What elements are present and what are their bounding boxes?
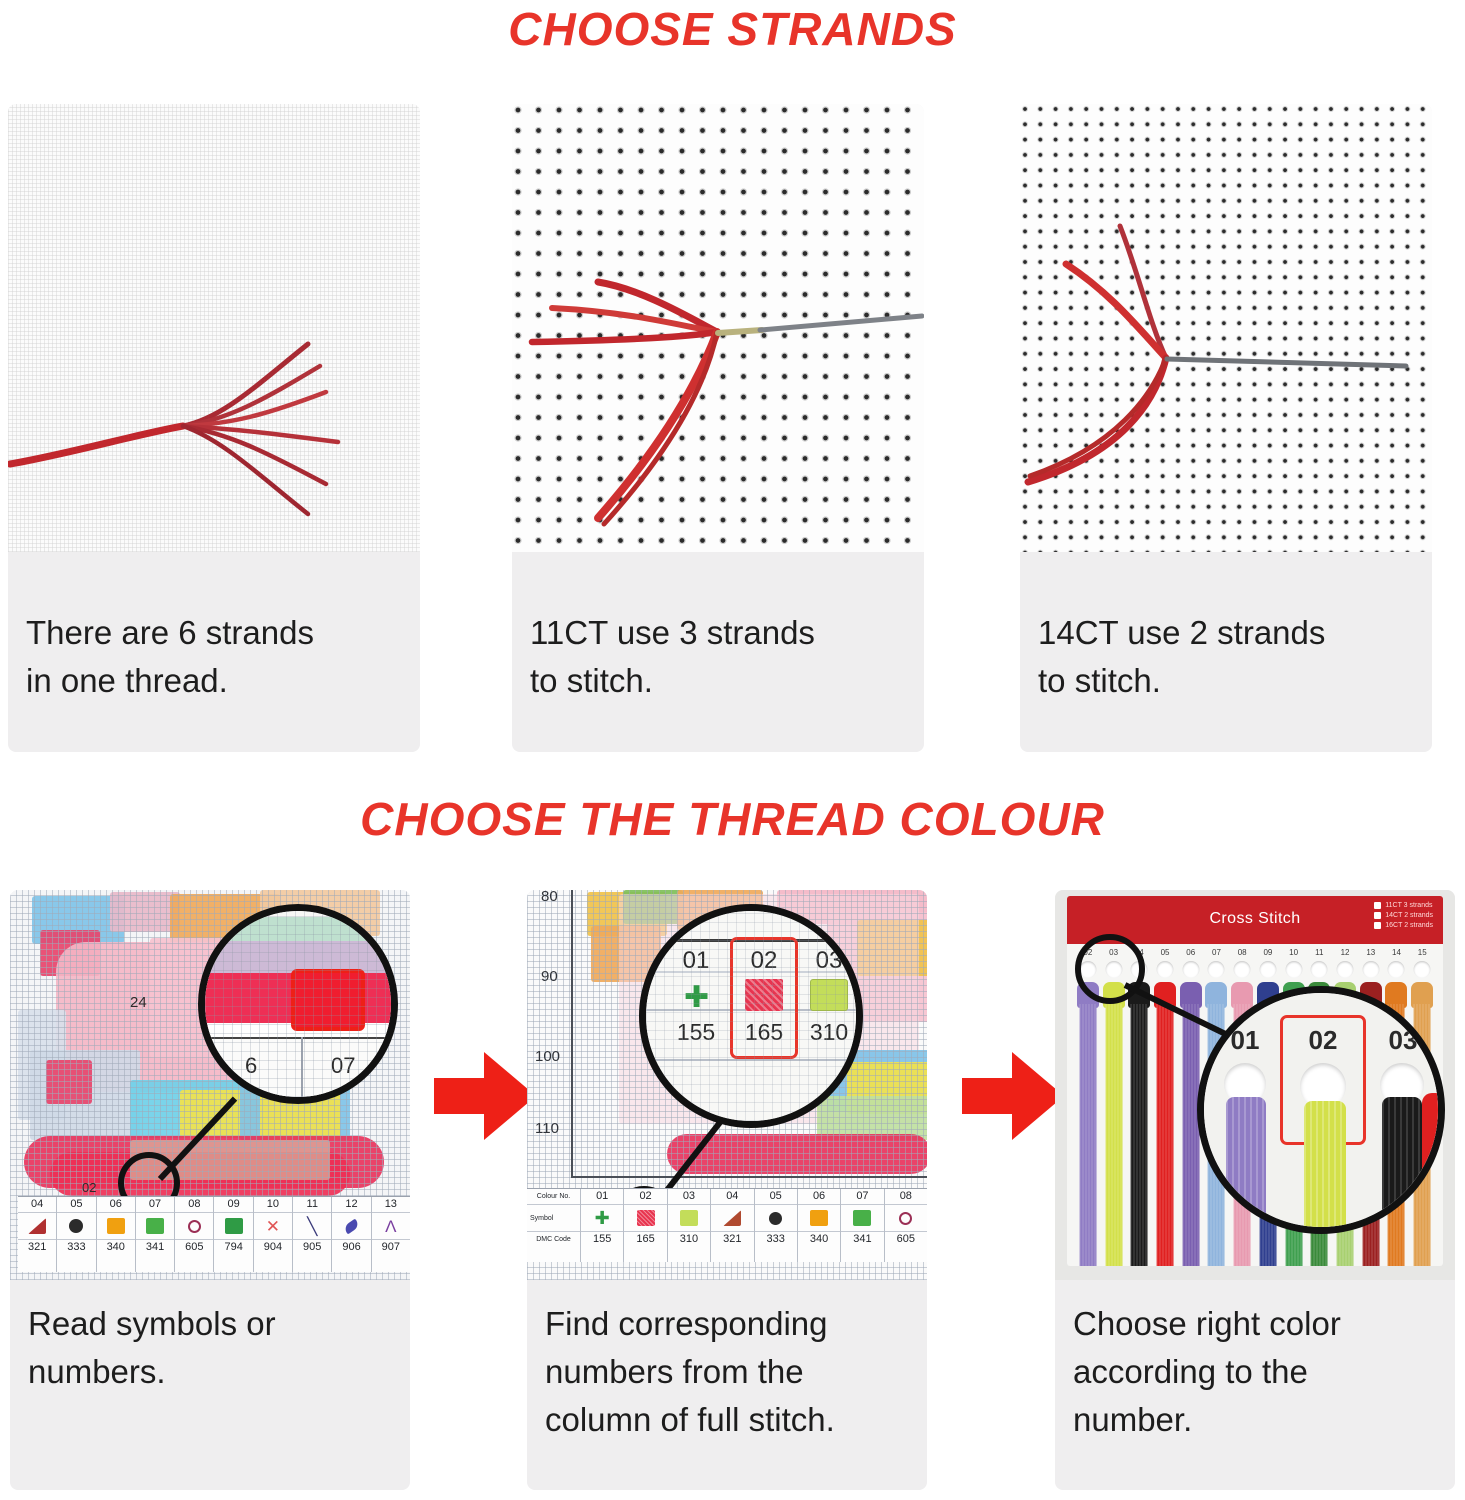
thread-skein	[1126, 982, 1152, 1266]
legend-thread-code: 333	[755, 1231, 797, 1247]
caption-line-2: to stitch.	[530, 657, 906, 705]
caption-read-symbols: Read symbols or numbers.	[10, 1300, 410, 1396]
legend-column: 01 ✚ 155	[581, 1189, 624, 1262]
y-axis-tick-90: 90	[541, 968, 558, 985]
legend-row-labels: Colour No. Symbol DMC Code	[527, 1189, 581, 1262]
card-read-symbols: 24 02 6 07	[10, 890, 410, 1490]
photo-six-strands	[8, 104, 420, 552]
legend-column: 10 ✕ 904	[254, 1197, 293, 1272]
slot-number: 07	[1204, 948, 1230, 957]
thread-skein	[1075, 982, 1101, 1266]
slot-number: 06	[1178, 948, 1204, 957]
chart-y-axis	[571, 890, 573, 1178]
legend-column-number: 01	[581, 1189, 623, 1205]
caption-line-2: numbers from the	[545, 1348, 909, 1396]
magnifier-slot-02: 02	[1284, 1025, 1362, 1056]
caption-line-1: Find corresponding	[545, 1300, 909, 1348]
thread-slot: 12	[1332, 948, 1358, 986]
legend-column-number: 05	[57, 1197, 95, 1213]
legend-symbol-feather	[332, 1213, 370, 1239]
chart-x-axis	[571, 1176, 927, 1178]
legend-column-number: 07	[136, 1197, 174, 1213]
magnifier-skein-03	[1382, 1097, 1422, 1234]
magnifier-focus-circle	[1075, 934, 1145, 1004]
y-axis-tick-80: 80	[541, 890, 558, 905]
slot-hole	[1182, 961, 1199, 978]
legend-column: 02 165	[624, 1189, 667, 1262]
thread-slot: 05	[1152, 948, 1178, 986]
pattern-marker-02: 02	[82, 1180, 96, 1195]
caption-line-2: to stitch.	[1038, 657, 1414, 705]
section-title-choose-thread-colour: CHOOSE THE THREAD COLOUR	[0, 792, 1465, 846]
magnifier-slot-03: 03	[1368, 1025, 1438, 1056]
legend-symbol: ✚	[581, 1205, 623, 1231]
legend-column-number: 02	[624, 1189, 666, 1205]
card-six-strands: There are 6 strands in one thread.	[8, 104, 420, 752]
slot-number: 13	[1358, 948, 1384, 957]
slot-hole	[1388, 961, 1405, 978]
legend-column: 07 341	[841, 1189, 884, 1262]
slot-number: 12	[1332, 948, 1358, 957]
photo-thread-card: Cross Stitch 11CT 3 strands 14CT 2 stran…	[1055, 890, 1455, 1280]
legend-column-number: 04	[18, 1197, 56, 1213]
legend-column: 05 333	[57, 1197, 96, 1272]
legend-symbol-cross: ✕	[254, 1213, 292, 1239]
thread-slot: 09	[1255, 948, 1281, 986]
legend-column: 13 Λ 907	[372, 1197, 410, 1272]
slot-number: 05	[1152, 948, 1178, 957]
legend-thread-code: 340	[97, 1239, 135, 1255]
caption-line-3: number.	[1073, 1396, 1437, 1444]
legend-thread-code: 341	[136, 1239, 174, 1255]
legend-thread-code: 605	[175, 1239, 213, 1255]
legend-symbol	[18, 1213, 56, 1239]
thread-skein	[1101, 982, 1127, 1266]
legend-thread-code: 165	[624, 1231, 666, 1247]
legend-column-number: 07	[841, 1189, 883, 1205]
y-axis-tick-100: 100	[535, 1048, 560, 1065]
slot-number: 09	[1255, 948, 1281, 957]
pattern-legend-strip: 04 321 05 333 06 340 07 341	[18, 1196, 410, 1272]
legend-column-number: 09	[214, 1197, 252, 1213]
legend-symbol	[798, 1205, 840, 1231]
check-label: 11CT 3 strands	[1385, 902, 1432, 909]
caption-line-2: numbers.	[28, 1348, 392, 1396]
slot-number: 14	[1384, 948, 1410, 957]
legend-thread-code: 794	[214, 1239, 252, 1255]
legend-column-number: 13	[372, 1197, 410, 1213]
legend-column: 06 340	[798, 1189, 841, 1262]
slot-number: 11	[1306, 948, 1332, 957]
legend-symbol	[668, 1205, 710, 1231]
thread-card-check-item: 14CT 2 strands	[1374, 912, 1433, 919]
legend-column-number: 10	[254, 1197, 292, 1213]
checkbox-icon	[1374, 902, 1381, 909]
legend-thread-code: 907	[372, 1239, 410, 1255]
legend-column: 05 333	[755, 1189, 798, 1262]
thread-card-check-item: 11CT 3 strands	[1374, 902, 1433, 909]
thread-slot: 13	[1358, 948, 1384, 986]
caption-find-numbers: Find corresponding numbers from the colu…	[527, 1300, 927, 1444]
legend-thread-code: 310	[668, 1231, 710, 1247]
legend-column: 09 794	[214, 1197, 253, 1272]
legend-column: 08 605	[885, 1189, 927, 1262]
thread-six-strands-illustration	[8, 104, 420, 552]
legend-symbol	[214, 1213, 252, 1239]
legend-column-number: 06	[97, 1197, 135, 1213]
legend-symbol	[175, 1213, 213, 1239]
section-title-choose-strands: CHOOSE STRANDS	[0, 2, 1465, 56]
thread-skein	[1152, 982, 1178, 1266]
legend-column: 06 340	[97, 1197, 136, 1272]
two-strands-needle-illustration	[1020, 104, 1432, 552]
number-chart-canvas: 80 90 100 110 01 ✚ 155 02	[527, 890, 927, 1280]
slot-hole	[1234, 961, 1251, 978]
legend-thread-code: 340	[798, 1231, 840, 1247]
card-choose-colour: Cross Stitch 11CT 3 strands 14CT 2 stran…	[1055, 890, 1455, 1490]
legend-symbol	[841, 1205, 883, 1231]
legend-column-number: 05	[755, 1189, 797, 1205]
thread-slot: 10	[1281, 948, 1307, 986]
caption-14ct-two-strands: 14CT use 2 strands to stitch.	[1020, 609, 1432, 705]
legend-thread-code: 333	[57, 1239, 95, 1255]
caption-line-1: Read symbols or	[28, 1300, 392, 1348]
slot-hole	[1285, 961, 1302, 978]
slot-number: 08	[1229, 948, 1255, 957]
magnifier-lens-threadcard: 01 02 03	[1197, 986, 1445, 1234]
magnifier-skein-02	[1304, 1101, 1346, 1234]
thread-slot: 07	[1204, 948, 1230, 986]
legend-column: 12 906	[332, 1197, 371, 1272]
caption-line-2: according to the	[1073, 1348, 1437, 1396]
slot-number: 10	[1281, 948, 1307, 957]
thread-slot: 06	[1178, 948, 1204, 986]
slot-hole	[1259, 961, 1276, 978]
legend-column-number: 11	[293, 1197, 331, 1213]
legend-column-number: 03	[668, 1189, 710, 1205]
caption-choose-colour: Choose right color according to the numb…	[1055, 1300, 1455, 1444]
legend-column-number: 04	[711, 1189, 753, 1205]
legend-symbol	[885, 1205, 927, 1231]
legend-symbol	[97, 1213, 135, 1239]
magnifier-skein-01	[1226, 1097, 1266, 1234]
caption-line-2: in one thread.	[26, 657, 402, 705]
caption-line-1: 14CT use 2 strands	[1038, 609, 1414, 657]
legend-column-number: 06	[798, 1189, 840, 1205]
slot-hole	[1362, 961, 1379, 978]
legend-symbol	[57, 1213, 95, 1239]
legend-symbol-slash: ╲	[293, 1213, 331, 1239]
legend-thread-code: 905	[293, 1239, 331, 1255]
legend-column: 04 321	[18, 1197, 57, 1272]
photo-pattern-chart: 24 02 6 07	[10, 890, 410, 1280]
legend-thread-code: 155	[581, 1231, 623, 1247]
legend-column: 07 341	[136, 1197, 175, 1272]
photo-number-chart: 80 90 100 110 01 ✚ 155 02	[527, 890, 927, 1280]
slot-hole	[1208, 961, 1225, 978]
card-find-numbers: 80 90 100 110 01 ✚ 155 02	[527, 890, 927, 1490]
thread-slot: 11	[1306, 948, 1332, 986]
legend-thread-code: 321	[18, 1239, 56, 1255]
legend-thread-code: 904	[254, 1239, 292, 1255]
caption-line-3: column of full stitch.	[545, 1396, 909, 1444]
legend-symbol	[755, 1205, 797, 1231]
magnifier-lens-pattern: 6 07	[198, 904, 398, 1104]
caption-line-1: There are 6 strands	[26, 609, 402, 657]
caption-six-strands: There are 6 strands in one thread.	[8, 609, 420, 705]
slot-hole	[1157, 961, 1174, 978]
caption-line-1: 11CT use 3 strands	[530, 609, 906, 657]
legend-row-label-symbol: Symbol	[527, 1205, 580, 1231]
slot-hole	[1414, 961, 1431, 978]
caption-11ct-three-strands: 11CT use 3 strands to stitch.	[512, 609, 924, 705]
photo-11ct-three-strands	[512, 104, 924, 552]
check-label: 14CT 2 strands	[1385, 912, 1433, 919]
slot-hole	[1311, 961, 1328, 978]
legend-row-label-number: Colour No.	[527, 1189, 580, 1205]
legend-column: 03 310	[668, 1189, 711, 1262]
thread-slot: 08	[1229, 948, 1255, 986]
legend-column: 04 321	[711, 1189, 754, 1262]
magnifier-slot-01: 01	[1212, 1025, 1278, 1056]
checkbox-icon	[1374, 912, 1381, 919]
pattern-marker-24: 24	[130, 994, 147, 1011]
legend-thread-code: 341	[841, 1231, 883, 1247]
y-axis-tick-110: 110	[535, 1120, 559, 1137]
legend-thread-code: 321	[711, 1231, 753, 1247]
legend-column-number: 08	[885, 1189, 927, 1205]
thread-slot: 15	[1409, 948, 1435, 986]
slot-number: 15	[1409, 948, 1435, 957]
legend-symbol	[136, 1213, 174, 1239]
legend-symbol-caret: Λ	[372, 1213, 410, 1239]
card-14ct-two-strands: 14CT use 2 strands to stitch.	[1020, 104, 1432, 752]
legend-row-label-code: DMC Code	[527, 1231, 580, 1247]
thread-organizer-card: Cross Stitch 11CT 3 strands 14CT 2 stran…	[1055, 890, 1455, 1280]
pattern-chart-canvas: 24 02 6 07	[10, 890, 410, 1280]
legend-thread-code: 605	[885, 1231, 927, 1247]
card-11ct-three-strands: 11CT use 3 strands to stitch.	[512, 104, 924, 752]
check-label: 16CT 2 strands	[1385, 922, 1433, 929]
legend-column: 08 605	[175, 1197, 214, 1272]
thread-card-check-item: 16CT 2 strands	[1374, 922, 1433, 929]
legend-symbol	[624, 1205, 666, 1231]
legend-symbol	[711, 1205, 753, 1231]
caption-line-1: Choose right color	[1073, 1300, 1437, 1348]
thread-card-checkbox-list: 11CT 3 strands 14CT 2 strands 16CT 2 str…	[1374, 902, 1433, 929]
number-legend-strip: Colour No. Symbol DMC Code 01 ✚ 155 02 1…	[527, 1188, 927, 1262]
legend-column: 11 ╲ 905	[293, 1197, 332, 1272]
legend-column-number: 12	[332, 1197, 370, 1213]
legend-column-number: 08	[175, 1197, 213, 1213]
three-strands-needle-illustration	[512, 104, 924, 552]
photo-14ct-two-strands	[1020, 104, 1432, 552]
thread-slot: 14	[1384, 948, 1410, 986]
checkbox-icon	[1374, 922, 1381, 929]
slot-hole	[1337, 961, 1354, 978]
magnifier-lens-numbers: 01 ✚ 155 02 165 03 310	[639, 904, 863, 1128]
legend-thread-code: 906	[332, 1239, 370, 1255]
